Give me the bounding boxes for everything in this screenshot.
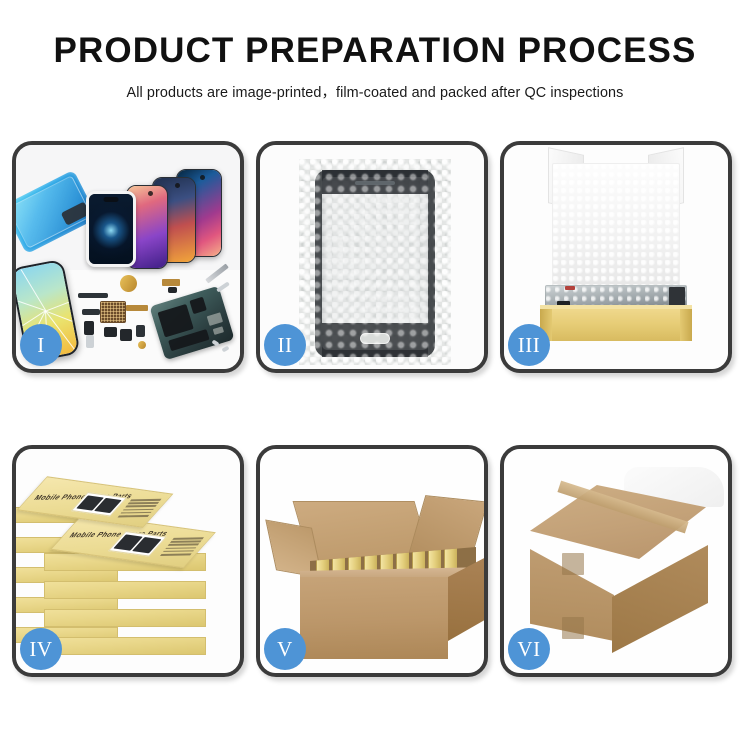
- step-badge-5: V: [264, 628, 306, 670]
- process-step-panel-5[interactable]: V: [256, 445, 488, 677]
- step-badge-6: VI: [508, 628, 550, 670]
- step-badge-1: I: [20, 324, 62, 366]
- step-badge-2: II: [264, 324, 306, 366]
- page-header: PRODUCT PREPARATION PROCESS All products…: [0, 0, 750, 102]
- process-step-panel-3[interactable]: III: [500, 141, 732, 373]
- process-step-panel-6[interactable]: VI: [500, 445, 732, 677]
- process-step-grid: I II: [12, 141, 739, 677]
- step-badge-4: IV: [20, 628, 62, 670]
- page-subtitle: All products are image-printed，film-coat…: [0, 81, 750, 102]
- page-title: PRODUCT PREPARATION PROCESS: [0, 32, 750, 70]
- process-step-panel-1[interactable]: I: [12, 141, 244, 373]
- process-step-panel-4[interactable]: Mobile Phone Spare Parts Mobile Phone Sp…: [12, 445, 244, 677]
- process-step-panel-2[interactable]: II: [256, 141, 488, 373]
- step-badge-3: III: [508, 324, 550, 366]
